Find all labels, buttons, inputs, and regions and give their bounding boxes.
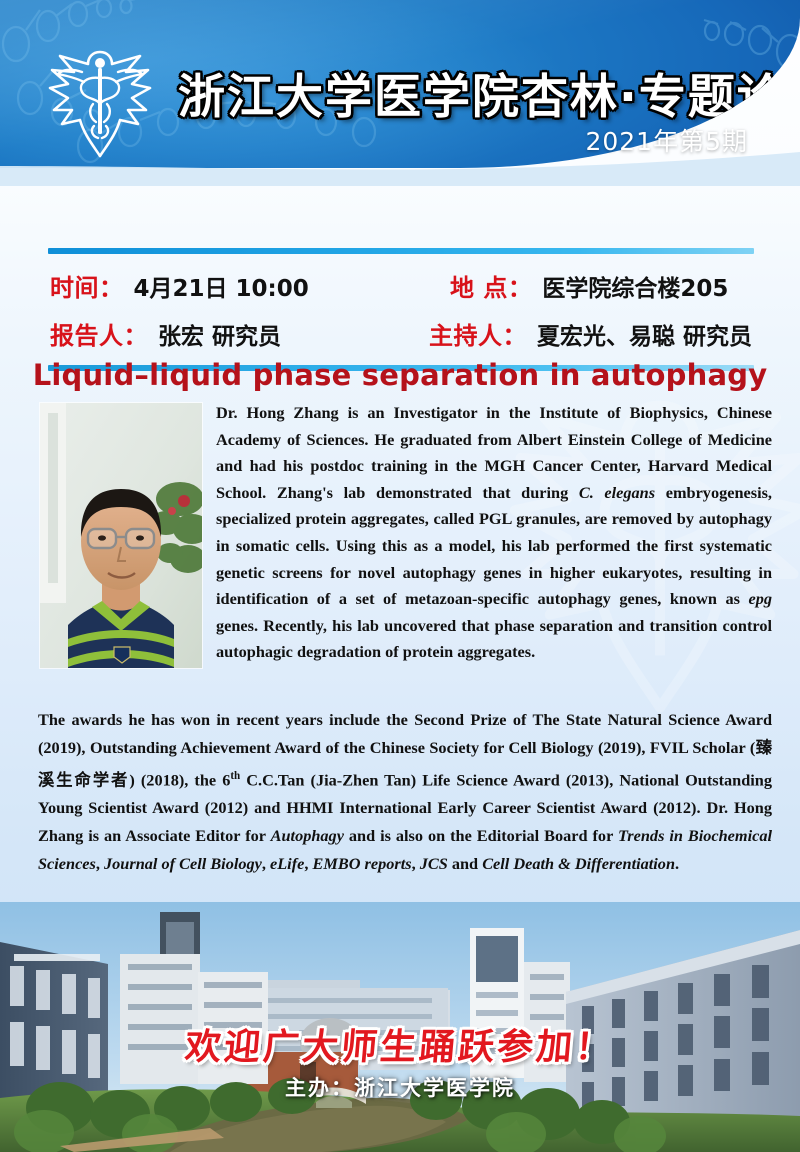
speaker-portrait (40, 403, 202, 668)
welcome-message: 欢迎广大师生踊跃参加！ (0, 1018, 800, 1070)
info-cell-location: 地 点： 医学院综合楼205 (450, 268, 728, 303)
speaker-bio: Dr. Hong Zhang is an Investigator in the… (216, 400, 772, 666)
info-row: 报告人： 张宏 研究员 主持人： 夏宏光、易聪 研究员 (50, 316, 752, 351)
info-label: 主持人： (429, 316, 527, 351)
info-cell-host: 主持人： 夏宏光、易聪 研究员 (429, 316, 752, 351)
info-label: 地 点： (450, 268, 532, 303)
caduceus-logo-icon (38, 38, 162, 162)
portrait-image (40, 403, 202, 668)
info-label: 时间： (50, 268, 124, 303)
event-info-block: 时间： 4月21日 10:00 地 点： 医学院综合楼205 报告人： 张宏 研… (48, 248, 754, 371)
info-cell-time: 时间： 4月21日 10:00 (50, 268, 450, 303)
poster-root: 浙江大学医学院杏林·专题论坛 2021年第5期 时间： 4月21日 10:00 … (0, 0, 800, 1152)
talk-title: Liquid–liquid phase separation in autoph… (0, 358, 800, 392)
issue-number-badge: 2021年第5期 (585, 122, 748, 158)
awards-paragraph: The awards he has won in recent years in… (38, 706, 772, 878)
info-cell-speaker: 报告人： 张宏 研究员 (50, 316, 429, 351)
info-rows: 时间： 4月21日 10:00 地 点： 医学院综合楼205 报告人： 张宏 研… (48, 254, 754, 365)
organizer-label: 主办：浙江大学医学院 (0, 1072, 800, 1102)
info-label: 报告人： (50, 316, 148, 351)
info-value: 4月21日 10:00 (134, 269, 309, 303)
info-value: 医学院综合楼205 (542, 269, 728, 303)
info-value: 夏宏光、易聪 研究员 (537, 317, 752, 351)
info-row: 时间： 4月21日 10:00 地 点： 医学院综合楼205 (50, 268, 752, 303)
info-value: 张宏 研究员 (158, 317, 281, 351)
